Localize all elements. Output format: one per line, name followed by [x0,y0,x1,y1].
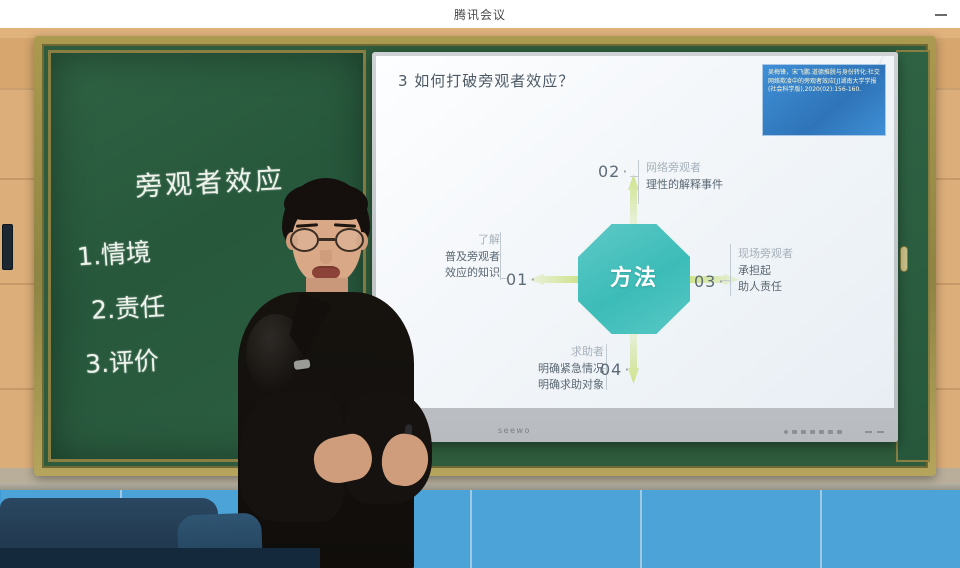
chalkboard-handle [900,246,908,272]
item-number-03: 03 [694,272,724,291]
item-label-04: 求助者 明确紧急情况 明确求助对象 [476,344,604,394]
display-indicators [865,431,884,433]
item-line-03-1: 承担起 [738,263,793,280]
display-ports [784,430,842,434]
item-line-04-1: 明确紧急情况 [476,361,604,378]
tick-02 [638,160,639,204]
glasses-icon [290,228,364,252]
item-number-04: 04 [600,360,630,379]
display-bezel: seewo [376,426,894,440]
item-line-03-2: 助人责任 [738,279,793,296]
tick-01 [500,232,501,280]
slide-title: 3 如何打破旁观者效应？ [398,70,574,91]
window-titlebar: 腾讯会议 [0,0,960,28]
video-stage[interactable]: 旁观者效应 1.情境 2.责任 3.评价 3 如何打破旁观者效应？ 吴梅锋，宋飞… [0,28,960,568]
item-number-01: 01 [506,270,536,289]
chalkboard-line-1: 1.情境 [76,232,152,273]
item-line-02-1: 理性的解释事件 [646,177,723,194]
center-label: 方法 [610,267,658,291]
tick-02-stub [630,176,638,177]
item-label-03: 现场旁观者 承担起 助人责任 [738,246,793,296]
app-title: 腾讯会议 [454,6,506,23]
chalkboard-line-3: 3.评价 [84,341,160,381]
teacher-fringe [284,184,368,220]
chalkboard-line-2: 2.责任 [90,287,166,327]
seewo-logo: seewo [498,426,531,435]
item-label-02: 网络旁观者 理性的解释事件 [646,160,723,193]
window-controls [934,0,948,28]
center-node: 方法 [578,224,690,334]
item-number-02: 02 [598,162,628,181]
foreground-shadow [0,548,320,568]
item-line-04-2: 明确求助对象 [476,377,604,394]
wall-box [2,224,13,270]
slide-screen[interactable]: 3 如何打破旁观者效应？ 吴梅锋，宋飞鹏.道德推脱与身份转化:社交网络欺凌中的旁… [376,56,894,408]
teacher-nose [320,250,332,264]
tick-03 [730,244,731,296]
item-head-03: 现场旁观者 [738,246,793,263]
item-head-02: 网络旁观者 [646,160,723,177]
item-head-04: 求助者 [476,344,604,361]
minimize-icon[interactable] [934,7,948,21]
citation-box: 吴梅锋，宋飞鹏.道德推脱与身份转化:社交网络欺凌中的旁观者效应[J]湖南大学学报… [762,64,886,136]
app-window: 腾讯会议 旁观者效应 1.情境 2.责任 3.评价 3 如何打 [0,0,960,568]
smart-display[interactable]: 3 如何打破旁观者效应？ 吴梅锋，宋飞鹏.道德推脱与身份转化:社交网络欺凌中的旁… [372,52,898,442]
teacher-figure [206,178,436,568]
